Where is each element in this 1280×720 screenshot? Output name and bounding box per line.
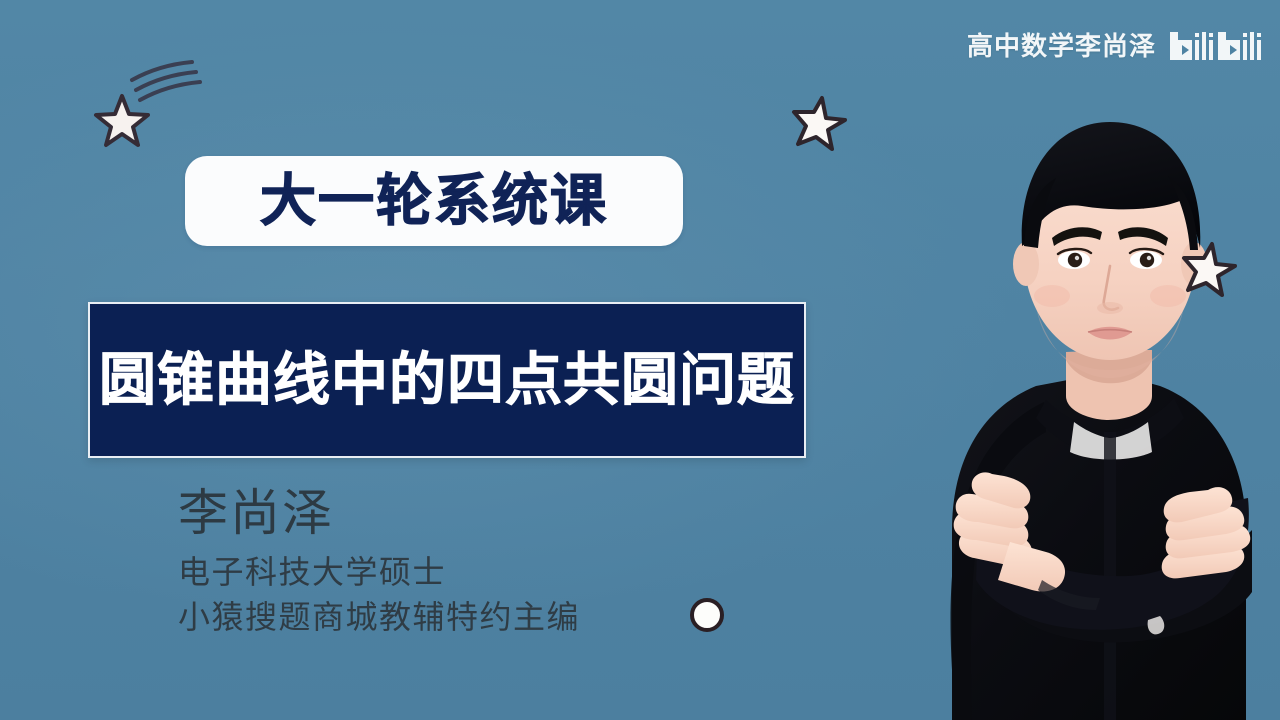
star-icon — [788, 92, 850, 154]
channel-watermark: 高中数学李尚泽 — [967, 28, 1264, 64]
presenter-name: 李尚泽 — [178, 487, 580, 540]
lesson-title: 圆锥曲线中的四点共圆问题 — [99, 352, 795, 409]
presenter-credential-2: 小猿搜题商城教辅特约主编 — [178, 595, 580, 640]
course-series-pill: 大一轮系统课 — [185, 156, 683, 246]
presenter-credential-1: 电子科技大学硕士 — [178, 550, 580, 595]
presenter-portrait-illustration — [860, 60, 1280, 720]
lesson-title-banner: 圆锥曲线中的四点共圆问题 — [88, 302, 806, 458]
video-title-slide: 高中数学李尚泽 — [0, 0, 1280, 720]
course-series-label: 大一轮系统课 — [260, 173, 608, 229]
channel-name: 高中数学李尚泽 — [967, 33, 1156, 59]
star-icon — [1178, 238, 1240, 300]
circle-dot-icon — [690, 598, 724, 632]
presenter-info: 李尚泽 电子科技大学硕士 小猿搜题商城教辅特约主编 — [178, 487, 580, 641]
shooting-star-icon — [88, 52, 208, 152]
bilibili-logo — [1168, 28, 1264, 64]
